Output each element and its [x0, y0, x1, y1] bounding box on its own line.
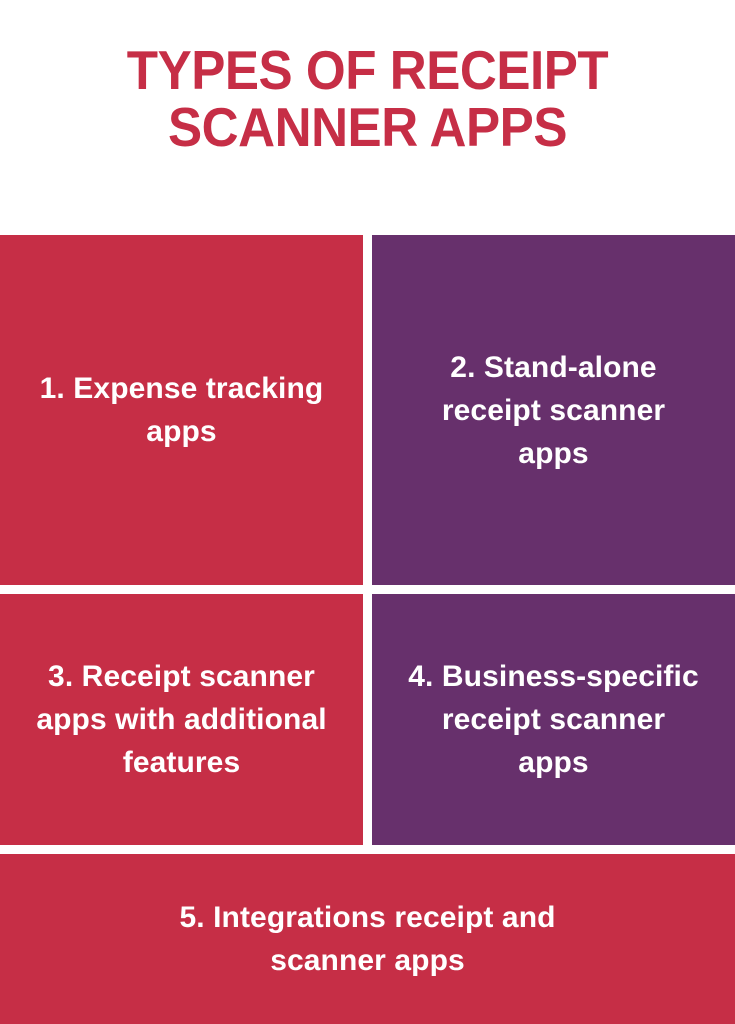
card-business-specific-receipt-scanner-apps[interactable]: 4. Business-specific receipt scanner app… — [372, 594, 735, 845]
page-title: TYPES OF RECEIPT SCANNER APPS — [0, 42, 735, 156]
card-receipt-scanner-apps-with-additional-features[interactable]: 3. Receipt scanner apps with additional … — [0, 594, 363, 845]
card-stand-alone-receipt-scanner-apps[interactable]: 2. Stand-alone receipt scanner apps — [372, 235, 735, 585]
card-grid-row-1: 1. Expense tracking apps 2. Stand-alone … — [0, 235, 735, 585]
card-label: 3. Receipt scanner apps with additional … — [32, 655, 332, 784]
card-integrations-receipt-and-scanner-apps[interactable]: 5. Integrations receipt and scanner apps — [0, 854, 735, 1024]
infographic-poster: TYPES OF RECEIPT SCANNER APPS 1. Expense… — [0, 0, 735, 1024]
card-label: 2. Stand-alone receipt scanner apps — [404, 346, 704, 475]
card-grid-row-2: 3. Receipt scanner apps with additional … — [0, 594, 735, 845]
card-label: 4. Business-specific receipt scanner app… — [404, 655, 704, 784]
card-grid: 1. Expense tracking apps 2. Stand-alone … — [0, 235, 735, 1024]
card-grid-row-3: 5. Integrations receipt and scanner apps — [0, 854, 735, 1024]
card-expense-tracking-apps[interactable]: 1. Expense tracking apps — [0, 235, 363, 585]
card-label: 1. Expense tracking apps — [32, 367, 332, 453]
card-label: 5. Integrations receipt and scanner apps — [158, 896, 578, 982]
page-title-line-2: SCANNER APPS — [52, 99, 683, 156]
page-title-line-1: TYPES OF RECEIPT — [52, 42, 683, 99]
